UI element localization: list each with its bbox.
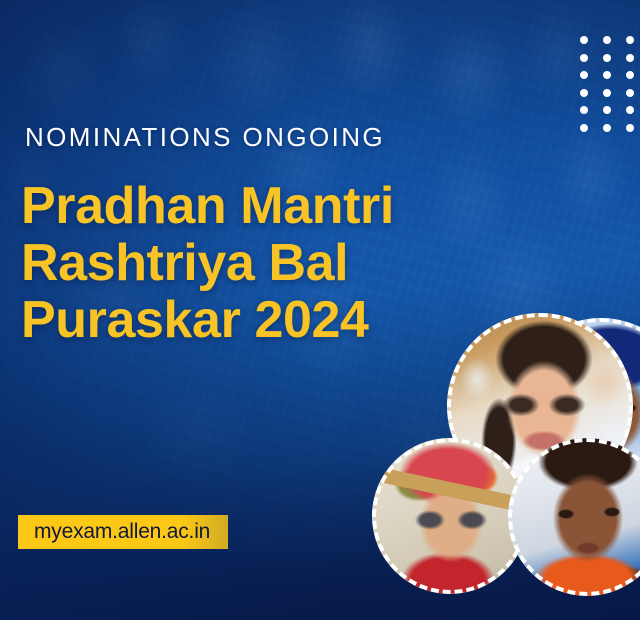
headline-line-3: Puraskar 2024	[21, 292, 491, 349]
grid-dot	[626, 89, 634, 97]
dot-grid-decoration	[580, 36, 640, 140]
url-badge-label: myexam.allen.ac.in	[34, 520, 210, 544]
grid-dot	[626, 71, 634, 79]
grid-dot	[580, 124, 588, 132]
grid-dot	[603, 124, 611, 132]
promo-banner: NOMINATIONS ONGOING Pradhan Mantri Rasht…	[0, 0, 640, 620]
grid-dot	[580, 36, 588, 44]
banner-kicker: NOMINATIONS ONGOING	[25, 122, 385, 153]
grid-dot	[603, 71, 611, 79]
grid-dot	[603, 89, 611, 97]
portrait-boy-with-pink-turban-playing-flute	[372, 438, 528, 594]
grid-dot	[626, 124, 634, 132]
grid-dot	[580, 89, 588, 97]
grid-dot	[603, 106, 611, 114]
grid-dot	[626, 36, 634, 44]
grid-dot	[580, 106, 588, 114]
grid-dot	[626, 54, 634, 62]
banner-headline: Pradhan Mantri Rashtriya Bal Puraskar 20…	[21, 178, 491, 349]
grid-dot	[626, 106, 634, 114]
headline-line-1: Pradhan Mantri	[21, 178, 491, 235]
url-badge[interactable]: myexam.allen.ac.in	[18, 515, 228, 549]
headline-line-2: Rashtriya Bal	[21, 235, 491, 292]
portrait-image	[372, 438, 528, 594]
grid-dot	[603, 36, 611, 44]
grid-dot	[580, 54, 588, 62]
grid-dot	[603, 54, 611, 62]
grid-dot	[580, 71, 588, 79]
